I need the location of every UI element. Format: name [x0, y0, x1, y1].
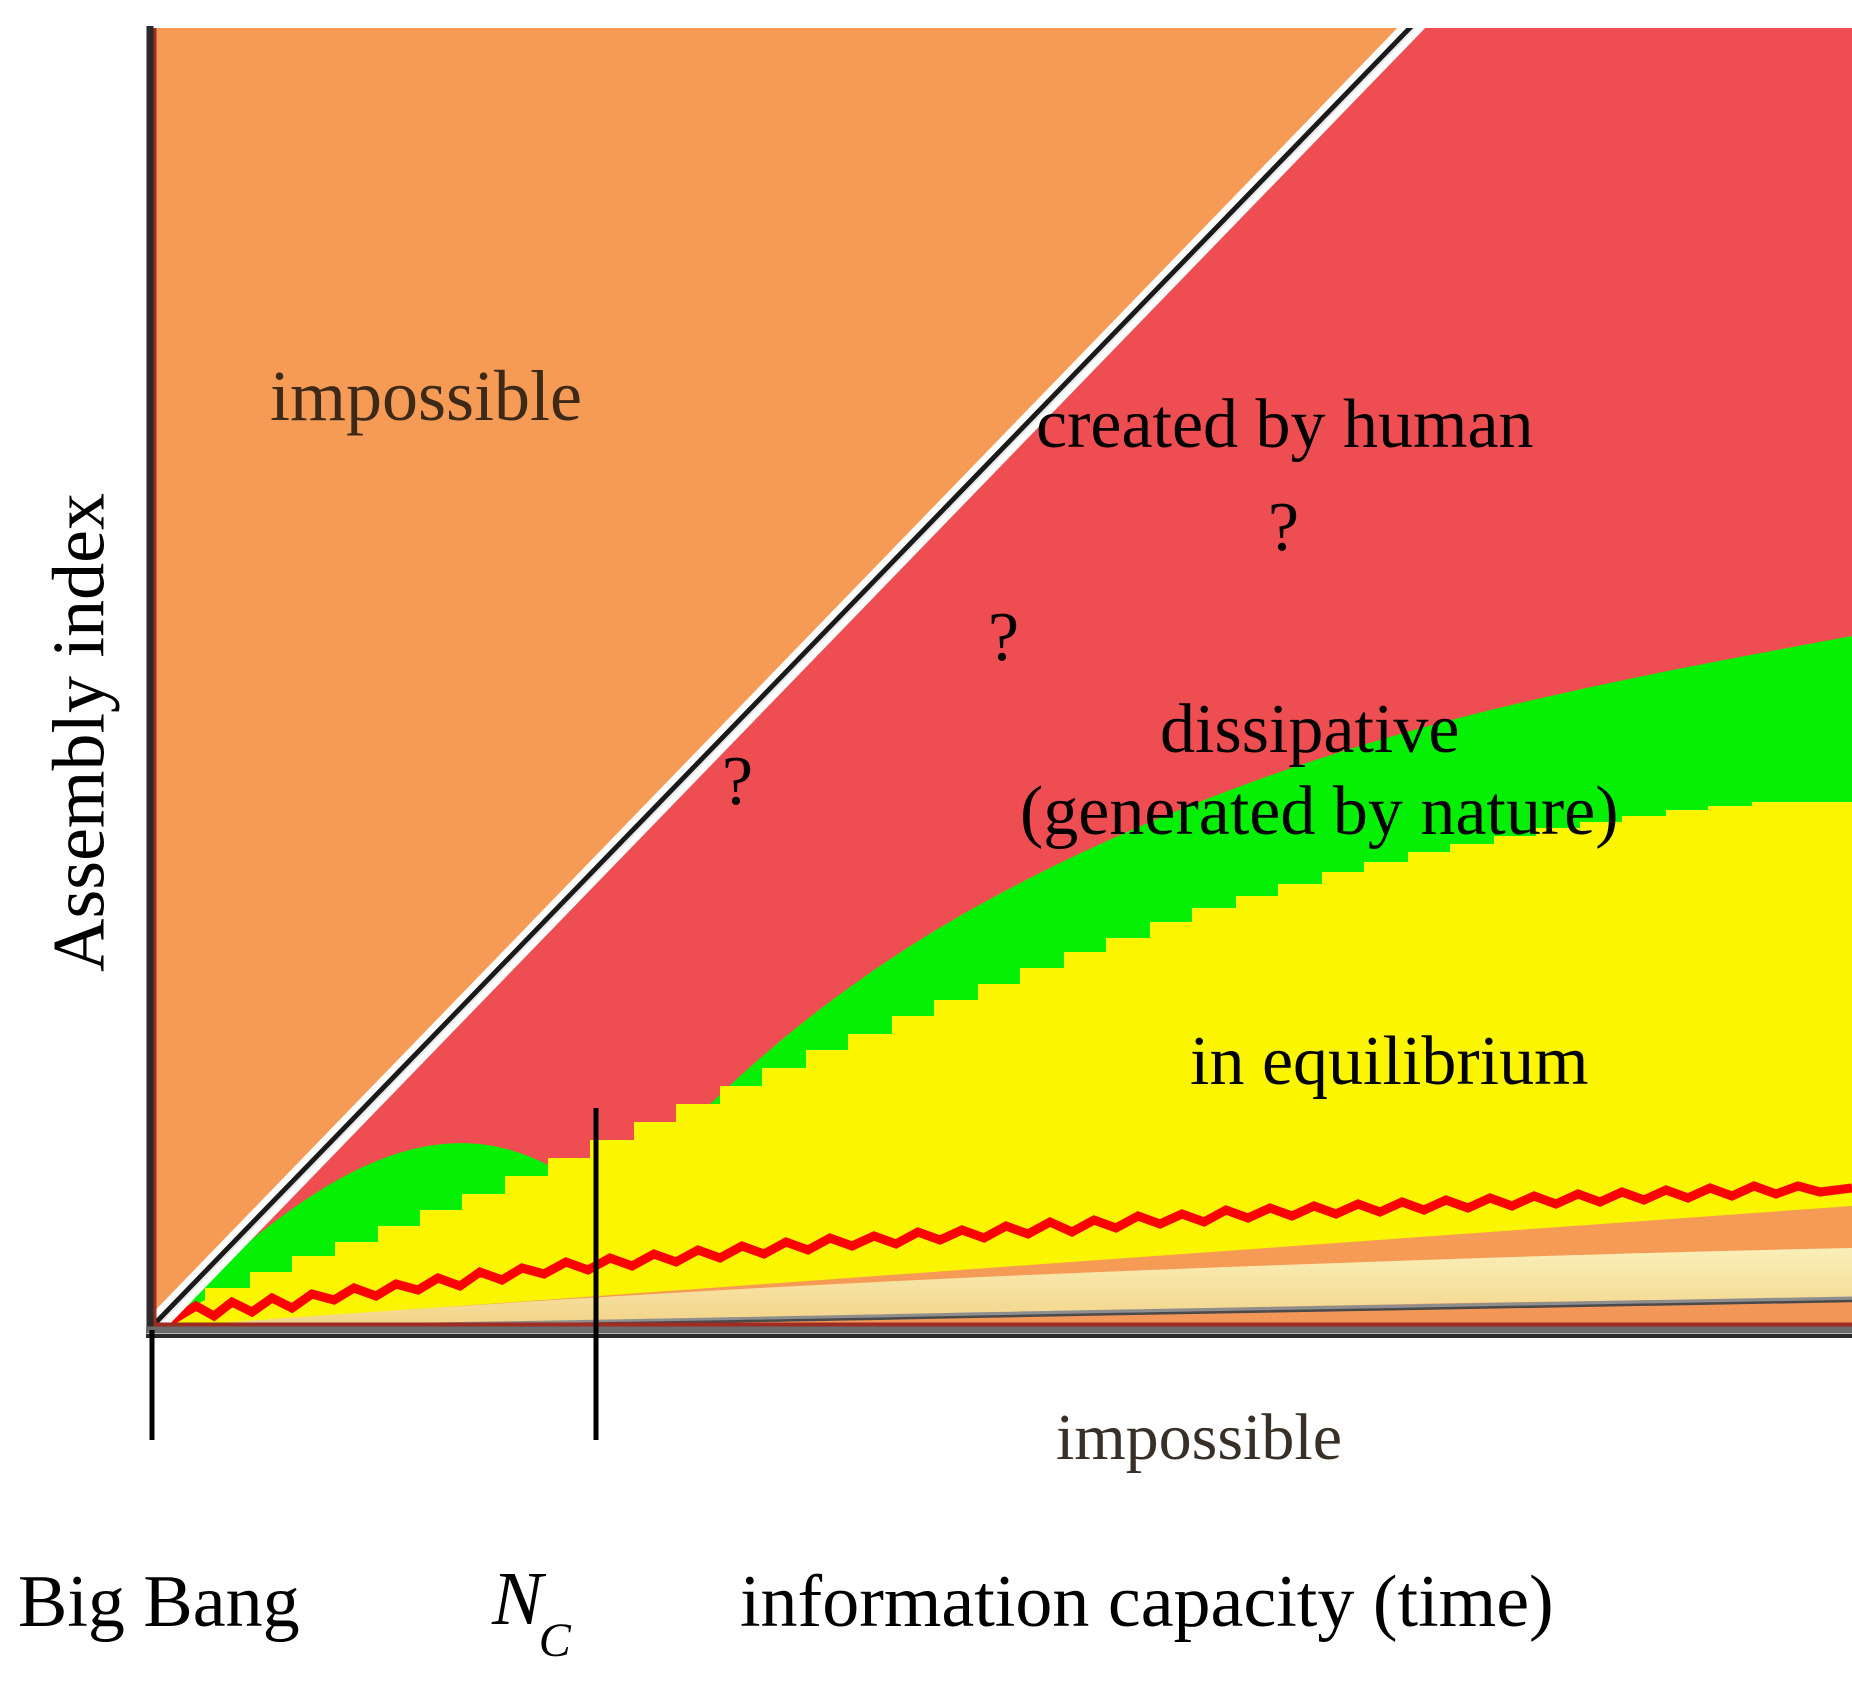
x-axis-nc-marker-label: NC [492, 1556, 575, 1652]
plot-area [0, 0, 1852, 1700]
question-mark-annotation-2: ? [988, 598, 1019, 678]
x-axis-title: information capacity (time) [740, 1560, 1554, 1645]
x-axis-origin-label: Big Bang [18, 1560, 300, 1645]
nc-subscript: C [539, 1614, 571, 1667]
question-mark-annotation-3: ? [722, 742, 753, 822]
question-mark-annotation-1: ? [1268, 488, 1299, 568]
nc-symbol: N [492, 1557, 543, 1641]
assembly-index-diagram: impossible created by human ? ? ? dissip… [0, 0, 1852, 1700]
y-axis-title: Assembly index [38, 413, 123, 1053]
